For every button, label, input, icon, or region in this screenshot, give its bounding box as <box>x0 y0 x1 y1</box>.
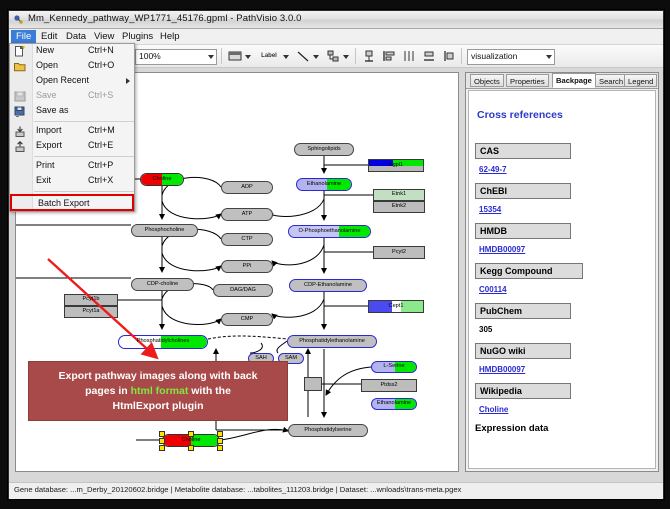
node-choline-top[interactable]: Choline <box>140 173 184 186</box>
tab-objects[interactable]: Objects <box>470 74 504 87</box>
menu-help[interactable]: Help <box>155 30 185 43</box>
tab-backpage[interactable]: Backpage <box>552 73 596 88</box>
menu-item-exit[interactable]: Exit Ctrl+X <box>10 174 134 189</box>
node-ethanolamine-top[interactable]: Ethanolamine <box>296 178 352 191</box>
link-hmdb[interactable]: HMDB00097 <box>479 245 525 254</box>
datanode-icon[interactable] <box>227 48 243 64</box>
link-wikipedia[interactable]: Choline <box>479 405 508 414</box>
section-header-cas: CAS <box>475 143 571 159</box>
new-file-icon <box>14 46 26 57</box>
menu-separator <box>34 156 134 157</box>
side-panel-tabs: Objects Properties Backpage Search Legen… <box>466 73 658 89</box>
zoom-value: 100% <box>139 51 161 61</box>
gene-pcyt1a[interactable]: Pcyt1a <box>64 306 118 318</box>
menu-item-import[interactable]: Import Ctrl+M <box>10 124 134 139</box>
menu-item-accel: Ctrl+M <box>88 125 115 135</box>
interaction-icon[interactable] <box>325 48 341 64</box>
side-panel: Objects Properties Backpage Search Legen… <box>465 72 659 472</box>
annotation-line-2a: pages in <box>85 385 131 397</box>
link-nugo[interactable]: HMDB00097 <box>479 365 525 374</box>
menu-separator <box>34 191 134 192</box>
chevron-down-icon[interactable] <box>245 55 251 59</box>
menu-item-label: Save <box>36 90 57 100</box>
label-icon-text: Label <box>257 48 281 64</box>
menu-item-accel: Ctrl+E <box>88 140 113 150</box>
annotation-line-3: HtmlExport plugin <box>113 400 204 412</box>
visualization-value: visualization <box>471 51 517 61</box>
save-as-icon <box>14 106 26 117</box>
menu-item-label: Print <box>36 160 55 170</box>
node-ppi[interactable]: PPi <box>221 260 273 273</box>
toolbar-separator <box>355 48 356 64</box>
annotation-text: Export pathway images along with back pa… <box>53 369 264 414</box>
menu-item-label: Open <box>36 60 58 70</box>
link-kegg[interactable]: C00114 <box>479 285 507 294</box>
menu-item-batch-export[interactable]: Batch Export <box>10 194 134 211</box>
menu-item-save-as[interactable]: Save as <box>10 104 134 119</box>
menu-item-label: Import <box>36 125 62 135</box>
chevron-down-icon[interactable] <box>283 55 289 59</box>
menu-separator <box>34 121 134 122</box>
node-o-phosphoethanolamine[interactable]: O-Phosphoethanolamine <box>288 225 371 238</box>
menu-item-accel: Ctrl+S <box>88 90 113 100</box>
node-l-serine[interactable]: L-Serine <box>371 361 417 373</box>
selection-handle[interactable] <box>159 431 165 437</box>
menu-data[interactable]: Data <box>61 30 91 43</box>
import-icon <box>14 126 26 137</box>
link-cas[interactable]: 62-49-7 <box>479 165 507 174</box>
chevron-down-icon <box>546 55 552 59</box>
zoom-combo[interactable]: 100% <box>135 49 217 65</box>
same-width-icon[interactable] <box>441 48 457 64</box>
menu-item-label: Save as <box>36 105 69 115</box>
chevron-down-icon[interactable] <box>313 55 319 59</box>
annotation-line-1: Export pathway images along with back <box>59 370 258 382</box>
annotation-callout: Export pathway images along with back pa… <box>28 361 288 421</box>
toolbar-separator <box>461 48 462 64</box>
line-icon[interactable] <box>295 48 311 64</box>
node-adp[interactable]: ADP <box>221 181 273 194</box>
selection-handle[interactable] <box>188 445 194 451</box>
selection-handle[interactable] <box>159 438 165 444</box>
menu-item-accel: Ctrl+N <box>88 45 114 55</box>
toolbar-separator <box>221 48 222 64</box>
selection-handle[interactable] <box>217 445 223 451</box>
menu-item-accel: Ctrl+P <box>88 160 113 170</box>
open-folder-icon <box>14 61 26 72</box>
menu-item-new[interactable]: New Ctrl+N <box>10 44 134 59</box>
align-top-icon[interactable] <box>361 48 377 64</box>
gene-cept1[interactable]: Cept1 <box>368 300 424 313</box>
menu-file[interactable]: File <box>11 30 36 43</box>
gene-ptdss2[interactable]: Ptdss2 <box>361 379 417 392</box>
gene-etnk2[interactable]: Etnk2 <box>373 201 425 213</box>
selection-handle[interactable] <box>159 445 165 451</box>
menu-item-save: Save Ctrl+S <box>10 89 134 104</box>
node-phosphatidylserine[interactable]: Phosphatidylserine <box>288 424 368 437</box>
expression-data-title: Expression data <box>475 423 548 434</box>
section-header-nugo: NuGO wiki <box>475 343 571 359</box>
save-disk-icon <box>14 91 26 102</box>
menu-edit[interactable]: Edit <box>36 30 62 43</box>
node-phosphatidylethanolamine[interactable]: Phosphatidylethanolamine <box>287 335 377 348</box>
submenu-arrow-icon <box>126 78 130 84</box>
annotation-line-2b: with the <box>188 385 231 397</box>
value-pubchem: 305 <box>479 325 492 334</box>
section-header-chebi: ChEBI <box>475 183 571 199</box>
menu-item-label: Batch Export <box>38 198 90 208</box>
section-header-pubchem: PubChem <box>475 303 571 319</box>
menu-item-open-recent[interactable]: Open Recent <box>10 74 134 89</box>
node-cmp[interactable]: CMP <box>221 313 273 326</box>
node-dag[interactable]: DAG/DAG <box>213 284 273 297</box>
node-phosphatidylcholines[interactable]: Phosphatidylcholines <box>118 335 208 349</box>
menu-plugins[interactable]: Plugins <box>117 30 158 43</box>
menu-item-export[interactable]: Export Ctrl+E <box>10 139 134 154</box>
section-header-hmdb: HMDB <box>475 223 571 239</box>
menu-item-print[interactable]: Print Ctrl+P <box>10 159 134 174</box>
screen-root: Mm_Kennedy_pathway_WP1771_45176.gpml - P… <box>0 0 670 509</box>
expression-block-green <box>401 301 423 312</box>
backpage-title: Cross references <box>477 109 563 121</box>
gene-unlabeled-box[interactable] <box>304 377 322 391</box>
node-sphingolipids[interactable]: Sphingolipids <box>294 143 354 156</box>
node-cdp-ethanolamine[interactable]: CDP-Ethanolamine <box>289 279 367 292</box>
chevron-down-icon <box>208 55 214 59</box>
pathvisio-window: Mm_Kennedy_pathway_WP1771_45176.gpml - P… <box>8 10 664 499</box>
section-header-wikipedia: Wikipedia <box>475 383 571 399</box>
tab-legend[interactable]: Legend <box>624 74 657 87</box>
menu-item-accel: Ctrl+O <box>88 60 114 70</box>
label-icon[interactable]: Label <box>257 48 281 64</box>
status-bar: Gene database: ...m_Derby_20120602.bridg… <box>9 482 663 499</box>
backpage-content[interactable]: Cross references CAS 62-49-7 ChEBI 15354… <box>468 90 656 469</box>
menu-item-label: Export <box>36 140 62 150</box>
stack-center-icon[interactable] <box>421 48 437 64</box>
menu-item-label: Open Recent <box>36 75 89 85</box>
export-icon <box>14 141 26 152</box>
chevron-down-icon[interactable] <box>343 55 349 59</box>
node-atp[interactable]: ATP <box>221 208 273 221</box>
node-cdp-choline[interactable]: CDP-choline <box>131 278 194 291</box>
gene-pcyt2[interactable]: Pcyt2 <box>373 246 425 259</box>
visualization-combo[interactable]: visualization <box>467 49 555 65</box>
align-center-icon[interactable] <box>401 48 417 64</box>
selection-handle[interactable] <box>217 431 223 437</box>
gene-etnk1[interactable]: Etnk1 <box>373 189 425 201</box>
menu-item-label: Exit <box>36 175 51 185</box>
title-bar: Mm_Kennedy_pathway_WP1771_45176.gpml - P… <box>9 11 663 29</box>
file-menu-popup[interactable]: New Ctrl+N Open Ctrl+O Open Recent Save … <box>9 43 135 212</box>
section-header-kegg: Kegg Compound <box>475 263 583 279</box>
menu-item-label: New <box>36 45 54 55</box>
menu-item-accel: Ctrl+X <box>88 175 113 185</box>
status-text: Gene database: ...m_Derby_20120602.bridg… <box>14 485 461 494</box>
link-chebi[interactable]: 15354 <box>479 205 501 214</box>
window-title: Mm_Kennedy_pathway_WP1771_45176.gpml - P… <box>28 13 302 24</box>
tab-search[interactable]: Search <box>595 74 627 87</box>
annotation-highlight: html format <box>131 385 189 397</box>
pathvisio-app-icon <box>13 14 24 25</box>
node-ethanolamine-bottom[interactable]: Ethanolamine <box>371 398 417 410</box>
align-left-icon[interactable] <box>381 48 397 64</box>
node-phosphocholine[interactable]: Phosphocholine <box>131 224 198 237</box>
menu-item-open[interactable]: Open Ctrl+O <box>10 59 134 74</box>
tab-properties[interactable]: Properties <box>506 74 549 87</box>
gene-sgpl1[interactable]: Sgpl1 <box>368 159 424 172</box>
selection-handle[interactable] <box>217 438 223 444</box>
node-ctp[interactable]: CTP <box>221 233 273 246</box>
gene-pcyt1b[interactable]: Pcyt1b <box>64 294 118 306</box>
menu-view[interactable]: View <box>89 30 119 43</box>
